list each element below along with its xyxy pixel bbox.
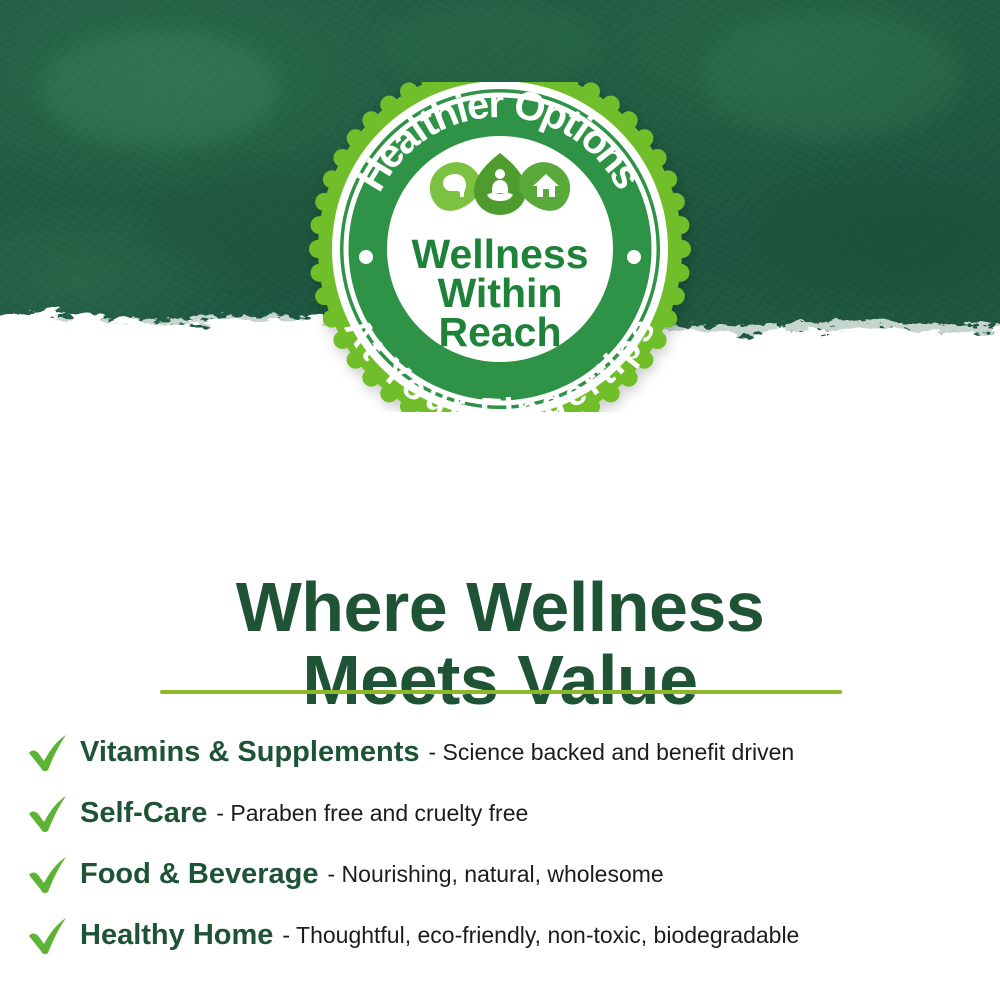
feature-title: Healthy Home xyxy=(80,919,273,952)
check-icon xyxy=(24,731,72,775)
promo-banner: Healthier Options At Your Fingertips xyxy=(0,0,1000,1000)
list-item: Food & Beverage - Nourishing, natural, w… xyxy=(24,844,984,905)
list-item: Self-Care - Paraben free and cruelty fre… xyxy=(24,783,984,844)
texture-wisp xyxy=(760,180,1000,290)
check-icon xyxy=(24,792,72,836)
texture-wisp xyxy=(380,0,600,90)
feature-title: Food & Beverage xyxy=(80,858,319,891)
seal-center-line-3: Reach xyxy=(438,309,561,355)
wellness-seal: Healthier Options At Your Fingertips xyxy=(298,82,702,412)
feature-title: Self-Care xyxy=(80,797,207,830)
seal-dot-left xyxy=(359,250,373,264)
texture-wisp xyxy=(40,30,280,150)
feature-title: Vitamins & Supplements xyxy=(80,736,420,769)
feature-description: - Nourishing, natural, wholesome xyxy=(328,861,664,888)
check-icon xyxy=(24,853,72,897)
feature-description: - Paraben free and cruelty free xyxy=(216,800,528,827)
feature-description: - Thoughtful, eco-friendly, non-toxic, b… xyxy=(282,922,799,949)
headline-line-1: Where Wellness xyxy=(236,568,765,646)
feature-description: - Science backed and benefit driven xyxy=(429,739,795,766)
list-item: Healthy Home - Thoughtful, eco-friendly,… xyxy=(24,905,984,966)
page-title: Where Wellness Meets Value xyxy=(0,571,1000,717)
check-icon xyxy=(24,914,72,958)
texture-wisp xyxy=(700,10,960,140)
feature-list: Vitamins & Supplements - Science backed … xyxy=(24,722,984,966)
title-divider xyxy=(160,690,842,694)
seal-dot-right xyxy=(627,250,641,264)
headline-line-2: Meets Value xyxy=(0,644,1000,717)
list-item: Vitamins & Supplements - Science backed … xyxy=(24,722,984,783)
